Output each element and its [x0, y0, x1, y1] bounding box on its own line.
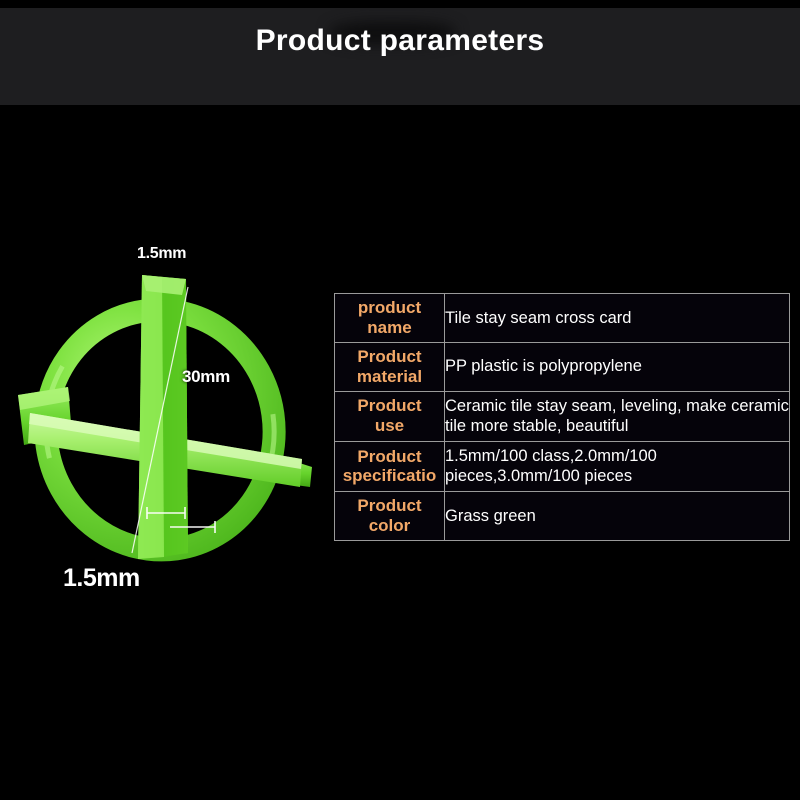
- product-parameters-page: Product parameters: [0, 0, 800, 800]
- table-row: product name Tile stay seam cross card: [335, 294, 790, 343]
- table-row: Product specificatio 1.5mm/100 class,2.0…: [335, 441, 790, 491]
- spec-label-line: Product: [357, 347, 421, 367]
- spec-label-line: product: [358, 298, 421, 318]
- spec-label-product-specification: Product specificatio: [335, 441, 445, 491]
- dimension-label-ring-diameter: 30mm: [182, 367, 230, 387]
- spec-label-line: Product: [357, 447, 421, 467]
- spec-label-line: use: [375, 416, 404, 436]
- spec-label-line: material: [357, 367, 422, 387]
- spec-label-product-use: Product use: [335, 391, 445, 441]
- spec-label-line: Product: [357, 496, 421, 516]
- page-title: Product parameters: [0, 24, 800, 58]
- dimension-label-fin-thickness-bottom: 1.5mm: [63, 564, 140, 593]
- spec-label-line: Product: [357, 396, 421, 416]
- spec-value-product-specification: 1.5mm/100 class,2.0mm/100 pieces,3.0mm/1…: [445, 441, 790, 491]
- dimension-label-fin-thickness-top: 1.5mm: [137, 245, 186, 263]
- spec-label-line: specificatio: [343, 466, 437, 486]
- table-row: Product color Grass green: [335, 492, 790, 541]
- spec-label-product-name: product name: [335, 294, 445, 343]
- table-row: Product use Ceramic tile stay seam, leve…: [335, 391, 790, 441]
- spec-value-product-use: Ceramic tile stay seam, leveling, make c…: [445, 391, 790, 441]
- table-row: Product material PP plastic is polypropy…: [335, 342, 790, 391]
- green-tile-cross-spacer-image: [10, 235, 320, 605]
- spec-value-product-color: Grass green: [445, 492, 790, 541]
- product-figure: [10, 235, 320, 605]
- product-specification-table: product name Tile stay seam cross card P…: [334, 293, 790, 541]
- spec-label-line: name: [367, 318, 411, 338]
- spec-label-product-material: Product material: [335, 342, 445, 391]
- spec-value-product-material: PP plastic is polypropylene: [445, 342, 790, 391]
- spec-value-product-name: Tile stay seam cross card: [445, 294, 790, 343]
- spec-label-line: color: [369, 516, 411, 536]
- spec-label-product-color: Product color: [335, 492, 445, 541]
